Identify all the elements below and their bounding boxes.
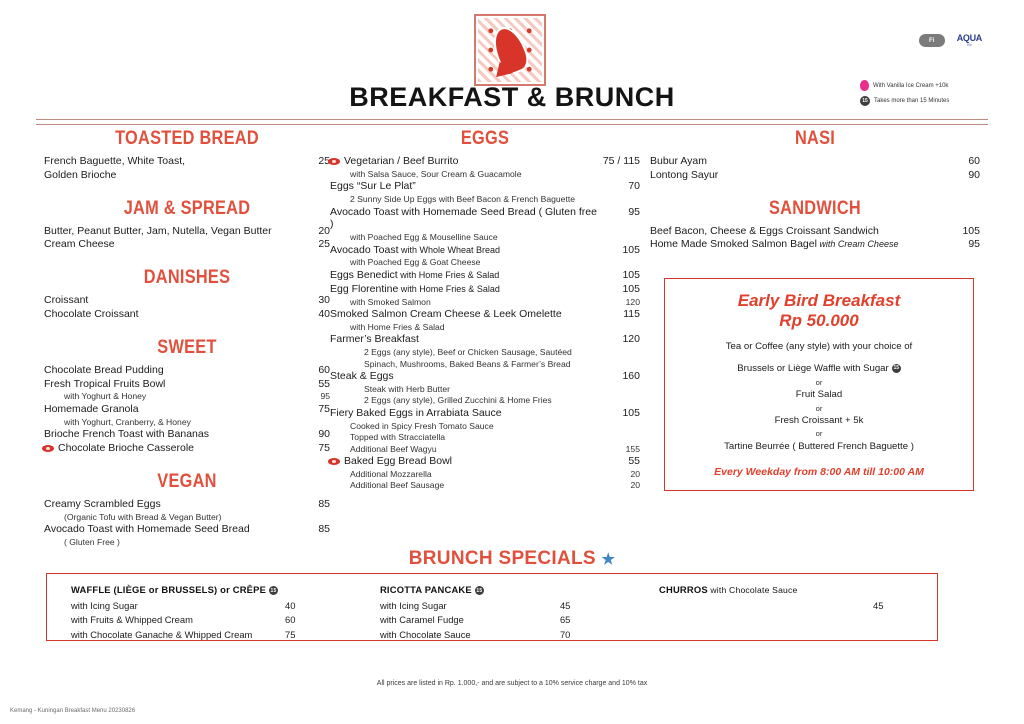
- menu-item-row: Farmer’s Breakfast120: [330, 333, 640, 346]
- menu-item-row: Additional Beef Sausage20: [330, 480, 640, 490]
- menu-item-row: with Salsa Sauce, Sour Cream & Guacamole: [330, 169, 640, 179]
- menu-item-price: 90: [946, 169, 980, 182]
- menu-item-price: 85: [296, 498, 330, 511]
- menu-item-name: Topped with Stracciatella: [330, 432, 606, 442]
- menu-item-price: 40: [296, 308, 330, 321]
- menu-item-name: (Organic Tofu with Bread & Vegan Butter): [44, 512, 296, 522]
- brunch-special-row: with Icing Sugar40: [71, 599, 380, 613]
- menu-item-row: Croissant30: [44, 294, 330, 307]
- menu-section: TOASTED BREADFrench Baguette, White Toas…: [44, 128, 330, 182]
- menu-item-name: Cooked in Spicy Fresh Tomato Sauce: [330, 421, 606, 431]
- brunch-special-title: CHURROS with Chocolate Sauce: [659, 584, 913, 595]
- menu-item-name: with Salsa Sauce, Sour Cream & Guacamole: [330, 169, 606, 179]
- menu-item-name: Homemade Granola: [44, 403, 296, 416]
- legend-label: Takes more than 15 Minutes: [874, 98, 949, 104]
- early-bird-intro: Tea or Coffee (any style) with your choi…: [675, 340, 963, 354]
- legend-label: With Vanilla Ice Cream +10k: [873, 83, 948, 89]
- menu-item-price: 25: [296, 238, 330, 251]
- fish-icon: [490, 25, 531, 76]
- menu-item-row: Vegetarian / Beef Burrito75 / 115: [330, 155, 640, 168]
- menu-item-name: Baked Egg Bread Bowl: [330, 455, 606, 468]
- menu-item-row: Additional Mozzarella20: [330, 469, 640, 479]
- menu-item-name: ( Gluten Free ): [44, 537, 296, 547]
- menu-item-name: Chocolate Bread Pudding: [44, 364, 296, 377]
- menu-item-price: 160: [606, 370, 640, 383]
- early-bird-or-2: or: [675, 403, 963, 414]
- document-watermark: Kemang - Kuningan Breakfast Menu 2023082…: [10, 708, 135, 714]
- section-heading: SANDWICH: [673, 198, 957, 220]
- brunch-special-group: RICOTTA PANCAKE15with Icing Sugar45with …: [380, 584, 659, 630]
- menu-section: VEGANCreamy Scrambled Eggs85(Organic Tof…: [44, 471, 330, 548]
- menu-item-description: with Home Fries & Salad: [398, 284, 500, 294]
- menu-item-row: Avocado Toast with Whole Wheat Bread105: [330, 244, 640, 257]
- brunch-special-group: WAFFLE (LIÈGE or BRUSSELS) or CRÊPE15wit…: [71, 584, 380, 630]
- section-heading: NASI: [673, 128, 957, 150]
- brunch-specials-heading: BRUNCH SPECIALS ★: [0, 548, 1024, 570]
- menu-item-name: Lontong Sayur: [650, 169, 946, 182]
- section-heading: TOASTED BREAD: [64, 128, 310, 150]
- menu-item-row: Golden Brioche: [44, 169, 330, 182]
- menu-item-row: ( Gluten Free ): [44, 537, 330, 547]
- menu-item-row: French Baguette, White Toast,25: [44, 155, 330, 168]
- menu-item-row: (Organic Tofu with Bread & Vegan Butter): [44, 512, 330, 522]
- aqua-sublabel: life: [957, 43, 982, 47]
- menu-item-price: 60: [296, 364, 330, 377]
- menu-item-price: 25: [296, 155, 330, 168]
- brunch-specials-box: WAFFLE (LIÈGE or BRUSSELS) or CRÊPE15wit…: [46, 573, 938, 641]
- menu-item-price: 75: [296, 403, 330, 416]
- menu-item-description: with Whole Wheat Bread: [399, 245, 501, 255]
- early-bird-choice-3: Fresh Croissant + 5k: [675, 414, 963, 428]
- section-heading: EGGS: [352, 128, 619, 150]
- menu-item-price: 20: [606, 469, 640, 479]
- menu-item-row: with Smoked Salmon120: [330, 297, 640, 307]
- brunch-special-price: 70: [560, 628, 600, 642]
- menu-item-name: Smoked Salmon Cream Cheese & Leek Omelet…: [330, 308, 606, 321]
- menu-item-row: 2 Eggs (any style), Beef or Chicken Saus…: [330, 347, 640, 357]
- brunch-special-subtitle: with Chocolate Sauce: [708, 585, 798, 595]
- menu-item-name: Avocado Toast with Homemade Seed Bread (…: [330, 206, 606, 232]
- menu-item-name: Additional Beef Sausage: [330, 480, 606, 490]
- menu-item-name: with Yoghurt & Honey: [44, 391, 296, 401]
- menu-item-name: with Smoked Salmon: [330, 297, 606, 307]
- early-bird-choice-1-text: Brussels or Liège Waffle with Sugar: [737, 363, 888, 374]
- menu-item-name: Egg Florentine with Home Fries & Salad: [330, 283, 606, 296]
- chili-pepper-icon: [328, 158, 340, 165]
- menu-item-name: Chocolate Croissant: [44, 308, 296, 321]
- menu-item-price: 20: [296, 225, 330, 238]
- legend: With Vanilla Ice Cream +10k 15 Takes mor…: [860, 80, 1000, 111]
- brunch-special-title: RICOTTA PANCAKE15: [380, 584, 659, 595]
- brunch-special-option: with Caramel Fudge: [380, 613, 560, 627]
- menu-item-row: Chocolate Bread Pudding60: [44, 364, 330, 377]
- menu-item-price: 105: [606, 244, 640, 257]
- wifi-icon: Fi: [919, 34, 945, 47]
- clock-icon: 15: [892, 364, 901, 373]
- menu-item-row: Spinach, Mushrooms, Baked Beans & Farmer…: [330, 359, 640, 369]
- menu-item-name: 2 Eggs (any style), Grilled Zucchini & H…: [330, 395, 606, 405]
- menu-item-row: Cooked in Spicy Fresh Tomato Sauce: [330, 421, 640, 431]
- brunch-special-price: 45: [873, 599, 913, 613]
- clock-icon: 15: [860, 96, 870, 106]
- menu-item-row: Avocado Toast with Homemade Seed Bread (…: [330, 206, 640, 232]
- brunch-special-price: 60: [285, 613, 325, 627]
- menu-item-row: Homemade Granola75: [44, 403, 330, 416]
- menu-item-row: Home Made Smoked Salmon Bagel with Cream…: [650, 238, 980, 251]
- menu-column-middle: EGGSVegetarian / Beef Burrito75 / 115wit…: [330, 128, 640, 492]
- legend-item: With Vanilla Ice Cream +10k: [860, 80, 1000, 91]
- menu-item-row: Butter, Peanut Butter, Jam, Nutella, Veg…: [44, 225, 330, 238]
- menu-item-name: with Poached Egg & Goat Cheese: [330, 257, 606, 267]
- early-bird-title-line1: Early Bird Breakfast: [675, 291, 963, 311]
- brunch-special-row: with Chocolate Sauce70: [380, 628, 659, 642]
- brunch-special-option: [659, 599, 873, 613]
- menu-item-name: with Home Fries & Salad: [330, 322, 606, 332]
- brunch-special-option: with Icing Sugar: [71, 599, 285, 613]
- menu-page: BREAKFAST & BRUNCH Fi AQUA life With Van…: [0, 0, 1024, 724]
- early-bird-availability: Every Weekday from 8:00 AM till 10:00 AM: [675, 466, 963, 478]
- menu-item-price: 85: [296, 523, 330, 536]
- early-bird-or-1: or: [675, 377, 963, 388]
- menu-item-name: Chocolate Brioche Casserole: [44, 442, 296, 455]
- menu-item-name: Golden Brioche: [44, 169, 296, 182]
- header-badges: Fi AQUA life: [919, 34, 982, 47]
- menu-item-row: Creamy Scrambled Eggs85: [44, 498, 330, 511]
- menu-item-price: 70: [606, 180, 640, 193]
- menu-item-row: 2 Eggs (any style), Grilled Zucchini & H…: [330, 395, 640, 405]
- menu-item-price: 55: [606, 455, 640, 468]
- menu-section: SWEETChocolate Bread Pudding60Fresh Trop…: [44, 337, 330, 455]
- menu-item-name: 2 Sunny Side Up Eggs with Beef Bacon & F…: [330, 194, 606, 204]
- menu-item-name: Eggs Benedict with Home Fries & Salad: [330, 269, 606, 282]
- menu-item-name: 2 Eggs (any style), Beef or Chicken Saus…: [330, 347, 606, 357]
- section-heading: VEGAN: [64, 471, 310, 493]
- menu-item-name: Steak & Eggs: [330, 370, 606, 383]
- brunch-special-row: with Chocolate Ganache & Whipped Cream75: [71, 628, 380, 642]
- menu-item-row: Steak & Eggs160: [330, 370, 640, 383]
- menu-item-description: with Cream Cheese: [817, 239, 899, 249]
- brunch-special-row: 45: [659, 599, 913, 613]
- menu-section: EGGSVegetarian / Beef Burrito75 / 115wit…: [330, 128, 640, 491]
- menu-item-row: Beef Bacon, Cheese & Eggs Croissant Sand…: [650, 225, 980, 238]
- menu-item-price: 20: [606, 480, 640, 490]
- menu-section: SANDWICHBeef Bacon, Cheese & Eggs Croiss…: [650, 198, 980, 252]
- menu-item-row: Fresh Tropical Fruits Bowl55: [44, 378, 330, 391]
- clock-icon: 15: [269, 586, 278, 595]
- menu-item-name: Vegetarian / Beef Burrito: [330, 155, 603, 168]
- menu-item-row: Cream Cheese25: [44, 238, 330, 251]
- early-bird-choice-2: Fruit Salad: [675, 388, 963, 402]
- brunch-special-option: with Chocolate Ganache & Whipped Cream: [71, 628, 285, 642]
- menu-item-name: Additional Mozzarella: [330, 469, 606, 479]
- menu-item-row: with Poached Egg & Mouselline Sauce: [330, 232, 640, 242]
- menu-item-price: 30: [296, 294, 330, 307]
- menu-item-name: with Poached Egg & Mouselline Sauce: [330, 232, 606, 242]
- menu-item-price: 155: [606, 444, 640, 454]
- menu-item-row: Brioche French Toast with Bananas90: [44, 428, 330, 441]
- early-bird-or-3: or: [675, 428, 963, 439]
- brunch-special-title: WAFFLE (LIÈGE or BRUSSELS) or CRÊPE15: [71, 584, 380, 595]
- menu-item-name: Spinach, Mushrooms, Baked Beans & Farmer…: [330, 359, 606, 369]
- menu-item-price: 120: [606, 297, 640, 307]
- menu-item-name: Cream Cheese: [44, 238, 296, 251]
- brunch-special-price: 40: [285, 599, 325, 613]
- section-heading: DANISHES: [64, 267, 310, 289]
- menu-item-row: Chocolate Brioche Casserole75: [44, 442, 330, 455]
- menu-item-price: 95: [606, 206, 640, 219]
- menu-item-row: Steak with Herb Butter: [330, 384, 640, 394]
- menu-item-name: Creamy Scrambled Eggs: [44, 498, 296, 511]
- vanilla-ice-cream-icon: [860, 80, 869, 91]
- menu-item-name: Home Made Smoked Salmon Bagel with Cream…: [650, 238, 946, 251]
- brunch-special-row: with Icing Sugar45: [380, 599, 659, 613]
- menu-item-name: Brioche French Toast with Bananas: [44, 428, 296, 441]
- menu-item-row: with Home Fries & Salad: [330, 322, 640, 332]
- menu-item-price: 60: [946, 155, 980, 168]
- menu-section: JAM & SPREADButter, Peanut Butter, Jam, …: [44, 198, 330, 252]
- restaurant-tile-logo: [474, 14, 546, 86]
- legend-item: 15 Takes more than 15 Minutes: [860, 96, 1000, 106]
- brunch-special-group: CHURROS with Chocolate Sauce45: [659, 584, 913, 630]
- menu-item-name: Butter, Peanut Butter, Jam, Nutella, Veg…: [44, 225, 296, 238]
- chili-pepper-icon: [42, 445, 54, 452]
- menu-item-price: 75 / 115: [603, 155, 640, 168]
- menu-item-name: Eggs “Sur Le Plat”: [330, 180, 606, 193]
- menu-item-name: French Baguette, White Toast,: [44, 155, 296, 168]
- menu-item-name: with Yoghurt, Cranberry, & Honey: [44, 417, 296, 427]
- menu-item-name: Bubur Ayam: [650, 155, 946, 168]
- menu-item-name: Fiery Baked Eggs in Arrabiata Sauce: [330, 407, 606, 420]
- menu-item-row: Eggs “Sur Le Plat”70: [330, 180, 640, 193]
- menu-item-name: Additional Beef Wagyu: [330, 444, 606, 454]
- menu-item-name: Farmer’s Breakfast: [330, 333, 606, 346]
- menu-item-row: Baked Egg Bread Bowl55: [330, 455, 640, 468]
- menu-item-price: 95: [946, 238, 980, 251]
- wifi-label: Fi: [929, 38, 934, 44]
- brunch-special-row: with Fruits & Whipped Cream60: [71, 613, 380, 627]
- clock-icon: 15: [475, 586, 484, 595]
- brunch-special-price: 45: [560, 599, 600, 613]
- menu-item-row: Smoked Salmon Cream Cheese & Leek Omelet…: [330, 308, 640, 321]
- menu-item-description: with Home Fries & Salad: [398, 270, 500, 280]
- menu-item-price: 115: [606, 308, 640, 321]
- menu-item-price: 75: [296, 442, 330, 455]
- brunch-specials-heading-text: BRUNCH SPECIALS: [409, 548, 596, 569]
- menu-item-row: Topped with Stracciatella: [330, 432, 640, 442]
- menu-item-row: Fiery Baked Eggs in Arrabiata Sauce105: [330, 407, 640, 420]
- menu-item-price: 105: [606, 407, 640, 420]
- menu-item-row: 2 Sunny Side Up Eggs with Beef Bacon & F…: [330, 194, 640, 204]
- menu-item-price: 105: [606, 283, 640, 296]
- menu-item-row: Avocado Toast with Homemade Seed Bread85: [44, 523, 330, 536]
- menu-item-name: Croissant: [44, 294, 296, 307]
- brunch-special-price: 75: [285, 628, 325, 642]
- chili-pepper-icon: [328, 458, 340, 465]
- menu-item-price: 90: [296, 428, 330, 441]
- menu-item-row: Eggs Benedict with Home Fries & Salad105: [330, 269, 640, 282]
- brunch-special-price: 65: [560, 613, 600, 627]
- brunch-special-option: with Chocolate Sauce: [380, 628, 560, 642]
- early-bird-choice-4: Tartine Beurrée ( Buttered French Baguet…: [675, 440, 963, 454]
- menu-item-row: with Yoghurt & Honey95: [44, 391, 330, 401]
- aqua-logo: AQUA life: [957, 34, 982, 47]
- section-heading: JAM & SPREAD: [64, 198, 310, 220]
- menu-item-price: 95: [296, 391, 330, 401]
- menu-item-row: Additional Beef Wagyu155: [330, 444, 640, 454]
- menu-item-name: Avocado Toast with Whole Wheat Bread: [330, 244, 606, 257]
- header-divider: [36, 119, 988, 125]
- brunch-special-option: with Fruits & Whipped Cream: [71, 613, 285, 627]
- menu-item-name: Fresh Tropical Fruits Bowl: [44, 378, 296, 391]
- menu-header: BREAKFAST & BRUNCH Fi AQUA life With Van…: [0, 0, 1024, 118]
- menu-item-row: Egg Florentine with Home Fries & Salad10…: [330, 283, 640, 296]
- menu-section: NASIBubur Ayam60Lontong Sayur90: [650, 128, 980, 182]
- menu-item-row: with Poached Egg & Goat Cheese: [330, 257, 640, 267]
- menu-item-price: 120: [606, 333, 640, 346]
- menu-item-price: 55: [296, 378, 330, 391]
- menu-item-row: Lontong Sayur90: [650, 169, 980, 182]
- menu-item-name: Beef Bacon, Cheese & Eggs Croissant Sand…: [650, 225, 946, 238]
- early-bird-choice-1: Brussels or Liège Waffle with Sugar15: [675, 362, 963, 376]
- star-icon: ★: [601, 551, 615, 568]
- menu-item-row: Bubur Ayam60: [650, 155, 980, 168]
- menu-item-name: Steak with Herb Butter: [330, 384, 606, 394]
- menu-item-price: 105: [606, 269, 640, 282]
- menu-item-name: Avocado Toast with Homemade Seed Bread: [44, 523, 296, 536]
- menu-section: DANISHESCroissant30Chocolate Croissant40: [44, 267, 330, 321]
- early-bird-title-line2: Rp 50.000: [675, 311, 963, 331]
- menu-item-price: 105: [946, 225, 980, 238]
- brunch-special-row: with Caramel Fudge65: [380, 613, 659, 627]
- menu-item-row: Chocolate Croissant40: [44, 308, 330, 321]
- menu-column-right: NASIBubur Ayam60Lontong Sayur90SANDWICHB…: [650, 128, 980, 252]
- menu-item-row: with Yoghurt, Cranberry, & Honey: [44, 417, 330, 427]
- section-heading: SWEET: [64, 337, 310, 359]
- brunch-special-option: with Icing Sugar: [380, 599, 560, 613]
- menu-column-left: TOASTED BREADFrench Baguette, White Toas…: [44, 128, 330, 548]
- price-footnote: All prices are listed in Rp. 1.000,- and…: [0, 680, 1024, 687]
- early-bird-promo-box: Early Bird Breakfast Rp 50.000 Tea or Co…: [664, 278, 974, 491]
